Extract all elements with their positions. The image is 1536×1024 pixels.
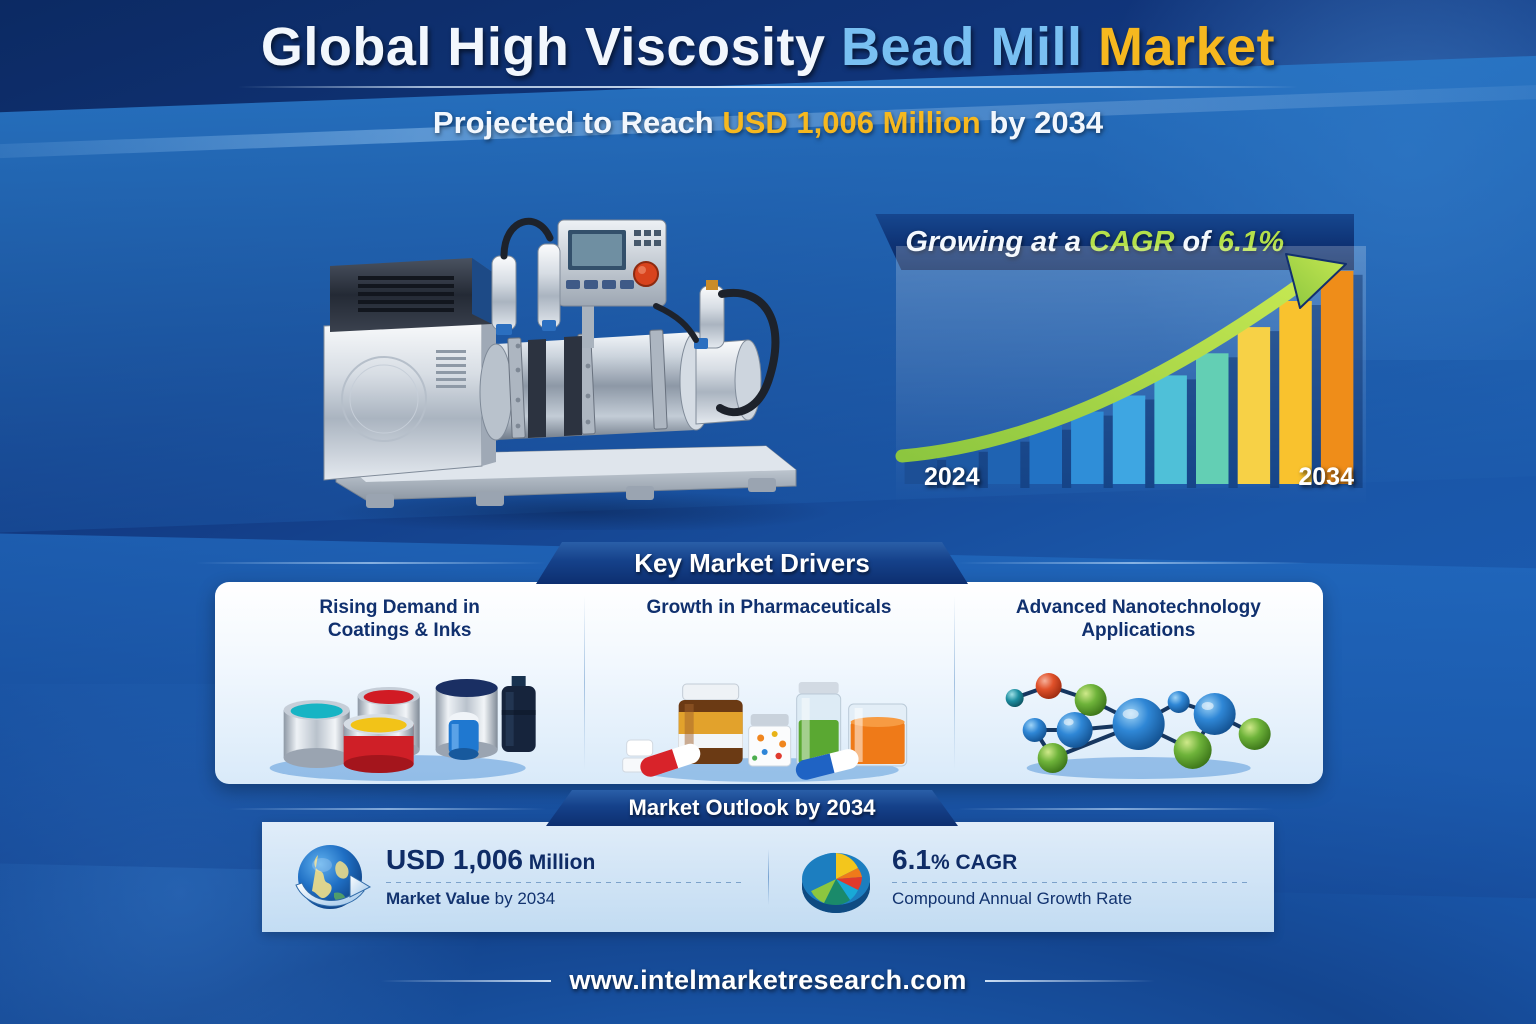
chart-bar-shadow (1145, 400, 1154, 489)
growth-bar-chart: 2024 2034 (896, 246, 1366, 506)
driver-label: Rising Demand in Coatings & Inks (223, 596, 576, 642)
chart-bar (1113, 396, 1146, 485)
outlook-banner-rule-left (230, 808, 546, 810)
header: Global High Viscosity Bead Mill Market P… (0, 18, 1536, 141)
chart-bar (1321, 271, 1354, 484)
hero-section: Growing at a CAGR of 6.1% 2 (0, 186, 1536, 534)
stat-value-number: USD 1,006 (386, 844, 523, 875)
stat-caption-rest: by 2034 (490, 889, 555, 908)
chart-year-end: 2034 (1298, 463, 1354, 492)
drivers-card: Rising Demand in Coatings & Inks (215, 582, 1323, 784)
chart-bar-shadow (1353, 275, 1362, 488)
chart-bar-shadow (1062, 430, 1071, 488)
chart-bar-shadow (1229, 357, 1238, 488)
footer-rule-left (381, 980, 551, 982)
stat-market-value: USD 1,006 Million Market Value by 2034 (262, 835, 768, 919)
outlook-stats-panel: USD 1,006 Million Market Value by 2034 (262, 822, 1274, 932)
driver-coatings-inks: Rising Demand in Coatings & Inks (215, 582, 584, 784)
chart-bar (1279, 301, 1312, 484)
key-market-drivers-label: Key Market Drivers (600, 548, 904, 579)
chart-bar (1238, 327, 1271, 484)
key-market-drivers-banner: Key Market Drivers (536, 542, 968, 584)
market-outlook-label: Market Outlook by 2034 (595, 795, 910, 821)
pharmaceuticals-icon (584, 658, 953, 782)
stat-caption-bold: Market Value (386, 889, 490, 908)
infographic-root: Global High Viscosity Bead Mill Market P… (0, 0, 1536, 1024)
stat-caption-rest: Compound Annual Growth Rate (892, 889, 1132, 908)
paint-cans-icon (215, 658, 584, 782)
chart-bar-shadow (1270, 331, 1279, 488)
chart-bar (1196, 353, 1229, 484)
subtitle-suffix: by 2034 (981, 105, 1103, 140)
stat-caption: Market Value by 2034 (386, 889, 742, 909)
bead-mill-machine-image (296, 194, 856, 530)
globe-icon (288, 835, 372, 919)
stat-value-unit: % CAGR (931, 851, 1017, 874)
subtitle-highlight: USD 1,006 Million (722, 105, 980, 140)
subtitle-prefix: Projected to Reach (433, 105, 722, 140)
driver-pharmaceuticals: Growth in Pharmaceuticals (584, 582, 953, 784)
title-part-2: Bead Mill (841, 17, 1098, 77)
stat-divider (892, 882, 1248, 883)
pie-chart-icon (794, 835, 878, 919)
chart-bar (1154, 375, 1187, 484)
stat-caption: Compound Annual Growth Rate (892, 889, 1248, 909)
chart-bar-shadow (1312, 305, 1321, 488)
title-part-3: Market (1098, 17, 1275, 77)
page-title: Global High Viscosity Bead Mill Market (0, 18, 1536, 76)
chart-bar-shadow (1020, 442, 1029, 488)
footer-rule-right (985, 980, 1155, 982)
outlook-banner-rule-right (958, 808, 1274, 810)
driver-nanotechnology: Advanced Nanotechnology Applications (954, 582, 1323, 784)
stat-value: USD 1,006 Million (386, 845, 742, 876)
chart-bar-shadow (1104, 416, 1113, 488)
driver-label: Advanced Nanotechnology Applications (962, 596, 1315, 642)
chart-bar-shadow (979, 452, 988, 488)
stat-divider (386, 882, 742, 883)
stat-value: 6.1% CAGR (892, 845, 1248, 876)
page-subtitle: Projected to Reach USD 1,006 Million by … (0, 105, 1536, 141)
stat-body: 6.1% CAGR Compound Annual Growth Rate (892, 845, 1248, 910)
title-divider (238, 86, 1298, 88)
chart-year-start: 2024 (924, 463, 980, 492)
drivers-banner-rule-right (958, 562, 1308, 564)
molecule-icon (954, 658, 1323, 782)
market-outlook-banner: Market Outlook by 2034 (546, 790, 958, 826)
stat-value-unit: Million (523, 851, 595, 874)
stat-cagr: 6.1% CAGR Compound Annual Growth Rate (768, 835, 1274, 919)
driver-label: Growth in Pharmaceuticals (592, 596, 945, 619)
title-part-1: Global High Viscosity (261, 17, 841, 77)
stat-body: USD 1,006 Million Market Value by 2034 (386, 845, 742, 910)
footer: www.intelmarketresearch.com (0, 965, 1536, 996)
chart-bar-shadow (1187, 379, 1196, 488)
chart-bar (1071, 412, 1104, 484)
stat-value-number: 6.1 (892, 844, 931, 875)
footer-url[interactable]: www.intelmarketresearch.com (569, 965, 966, 996)
drivers-banner-rule-left (196, 562, 546, 564)
